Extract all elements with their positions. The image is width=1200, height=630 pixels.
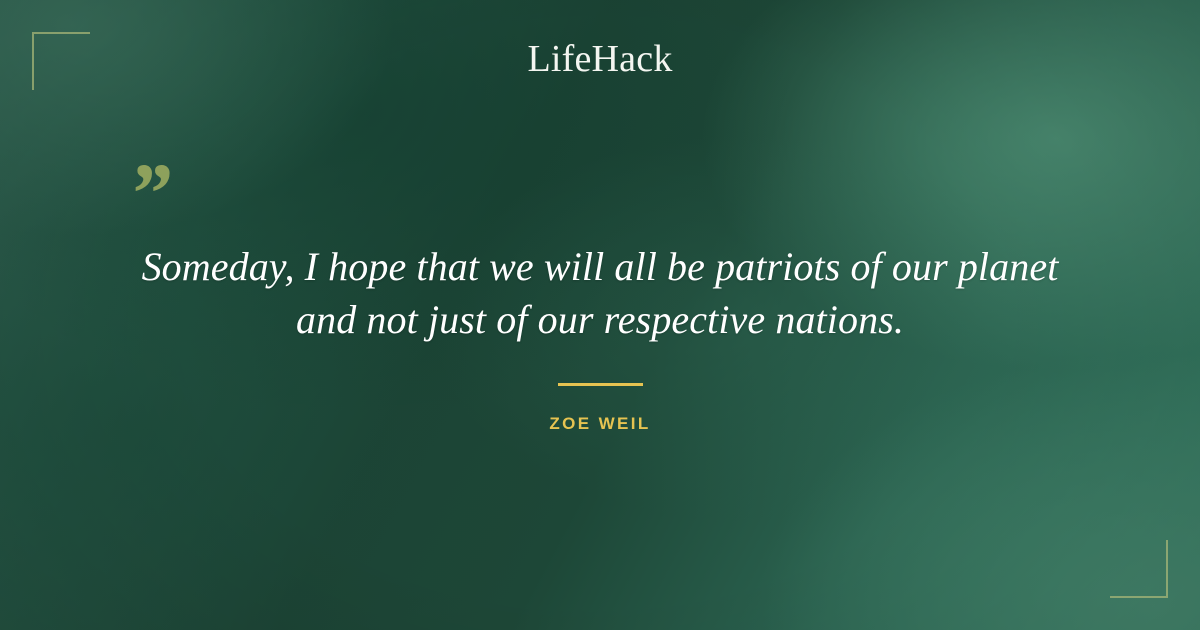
- attribution-divider: [558, 383, 643, 386]
- quote-author: ZOE WEIL: [0, 413, 1200, 435]
- quote-block: Someday, I hope that we will all be patr…: [100, 240, 1100, 346]
- quotation-mark-icon: ”: [128, 150, 171, 236]
- quote-line-1: Someday, I hope that we will all be patr…: [100, 240, 1100, 293]
- corner-bracket-bottom-right-icon: [1110, 540, 1168, 598]
- quote-card: LifeHack ” Someday, I hope that we will …: [0, 0, 1200, 630]
- lifehack-logo: LifeHack: [0, 37, 1200, 81]
- quote-line-2: and not just of our respective nations.: [100, 293, 1100, 346]
